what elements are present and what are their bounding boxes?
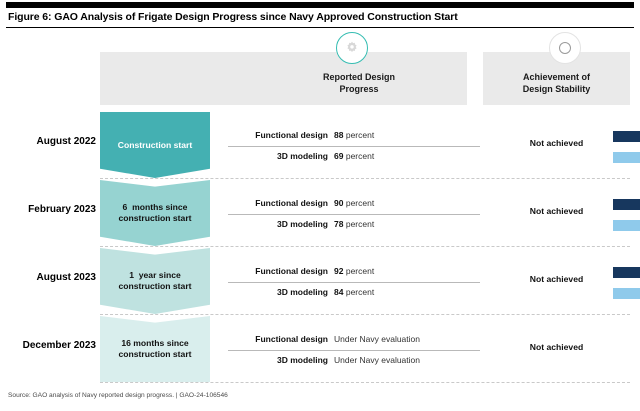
metric-3d-modeling: 3D modeling Under Navy evaluation: [228, 353, 480, 370]
metric-value: 88 percent: [334, 130, 374, 140]
metric-functional-design: Functional design 92 percent: [228, 264, 480, 281]
metric-value: 92 percent: [334, 266, 374, 276]
header-label-design-stability: Achievement ofDesign Stability: [483, 72, 630, 95]
achievement-status: Not achieved: [483, 206, 630, 216]
metric-unit: percent: [346, 219, 374, 229]
metric-divider: [228, 282, 480, 283]
table-row: February 2023 6 months sinceconstruction…: [0, 180, 640, 248]
metric-unit: percent: [346, 266, 374, 276]
metric-number: 78: [334, 219, 343, 229]
row-divider: [100, 314, 630, 315]
metric-label: 3D modeling: [228, 287, 328, 297]
metric-label: Functional design: [228, 130, 328, 140]
metric-3d-modeling: 3D modeling 69 percent: [228, 149, 480, 166]
figure-title: Figure 6: GAO Analysis of Frigate Design…: [8, 11, 628, 23]
metric-divider: [228, 146, 480, 147]
metric-functional-design: Functional design Under Navy evaluation: [228, 332, 480, 349]
achievement-status: Not achieved: [483, 342, 630, 352]
row-date: August 2022: [0, 136, 96, 147]
metric-unit: percent: [346, 151, 374, 161]
metric-label: Functional design: [228, 266, 328, 276]
metric-number: 88: [334, 130, 343, 140]
gear-icon: [336, 32, 368, 64]
milestone-box: 16 months sinceconstruction start: [100, 316, 210, 382]
row-divider: [100, 178, 630, 179]
circle-outline-inner-ring: [559, 42, 571, 54]
row-date: February 2023: [0, 204, 96, 215]
metric-value: Under Navy evaluation: [334, 355, 420, 365]
metric-number: 92: [334, 266, 343, 276]
metric-label: 3D modeling: [228, 355, 328, 365]
table-row: December 2023 16 months sinceconstructio…: [0, 316, 640, 384]
bar-3d-modeling: [613, 152, 640, 163]
metric-number: 90: [334, 198, 343, 208]
metric-3d-modeling: 3D modeling 78 percent: [228, 217, 480, 234]
bar-3d-modeling: [613, 220, 640, 231]
metric-divider: [228, 214, 480, 215]
circle-outline-icon: [549, 32, 581, 64]
metric-value: 84 percent: [334, 287, 374, 297]
bar-track: [613, 220, 640, 231]
metric-functional-design: Functional design 88 percent: [228, 128, 480, 145]
metric-label: Functional design: [228, 198, 328, 208]
achievement-status: Not achieved: [483, 274, 630, 284]
metric-label: 3D modeling: [228, 151, 328, 161]
metric-unit: percent: [346, 287, 374, 297]
row-date: August 2023: [0, 272, 96, 283]
milestone-box: 1 year sinceconstruction start: [100, 248, 210, 314]
table-row: August 2022 Construction start Functiona…: [0, 112, 640, 180]
table-row: August 2023 1 year sinceconstruction sta…: [0, 248, 640, 316]
top-rule: [6, 2, 634, 8]
title-underline: [6, 27, 634, 28]
row-divider: [100, 382, 630, 383]
header-label-reported-design-progress: Reported DesignProgress: [284, 72, 434, 95]
metric-value: Under Navy evaluation: [334, 334, 420, 344]
bar-track: [613, 152, 640, 163]
achievement-status: Not achieved: [483, 138, 630, 148]
metric-number: 84: [334, 287, 343, 297]
metric-3d-modeling: 3D modeling 84 percent: [228, 285, 480, 302]
metric-divider: [228, 350, 480, 351]
row-date: December 2023: [0, 340, 96, 351]
metric-label: 3D modeling: [228, 219, 328, 229]
metric-unit: percent: [346, 130, 374, 140]
bar-3d-modeling: [613, 288, 640, 299]
metric-value: 69 percent: [334, 151, 374, 161]
metric-value: 78 percent: [334, 219, 374, 229]
metric-number: 69: [334, 151, 343, 161]
milestone-box: Construction start: [100, 112, 210, 178]
metric-label: Functional design: [228, 334, 328, 344]
metric-unit: percent: [346, 198, 374, 208]
milestone-box: 6 months sinceconstruction start: [100, 180, 210, 246]
metric-functional-design: Functional design 90 percent: [228, 196, 480, 213]
metric-value: 90 percent: [334, 198, 374, 208]
bar-track: [613, 288, 640, 299]
row-divider: [100, 246, 630, 247]
source-note: Source: GAO analysis of Navy reported de…: [8, 392, 228, 399]
